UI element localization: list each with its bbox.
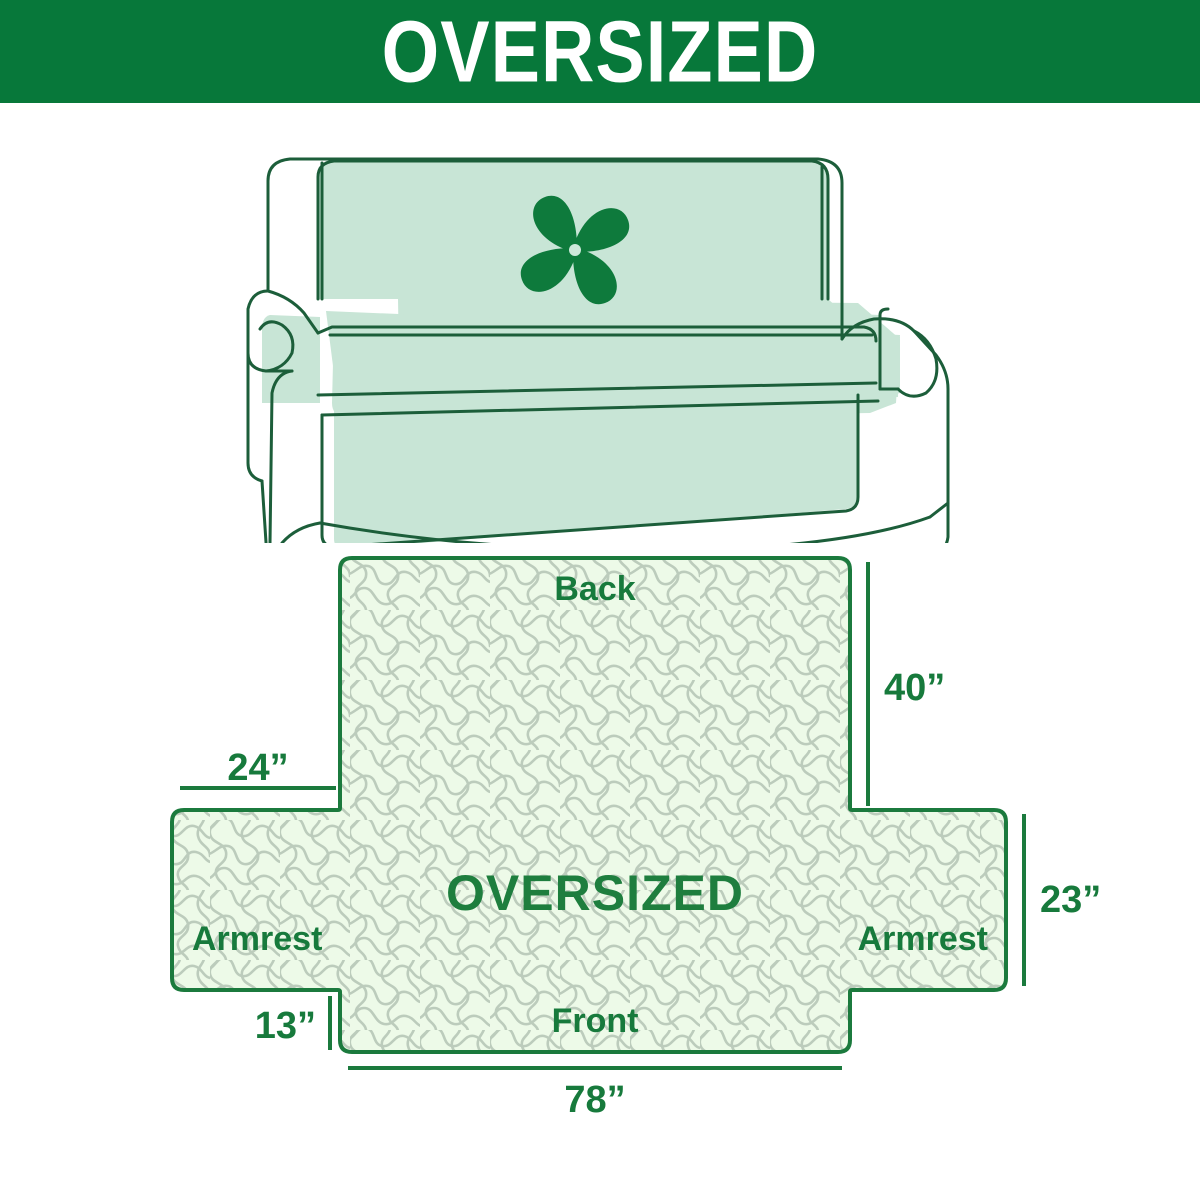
header-banner: OVERSIZED [0,0,1200,103]
page-title: OVERSIZED [382,8,819,95]
dimension-value-armrest-height: 23” [1040,879,1101,921]
section-label-armrest-right: Armrest [858,920,988,958]
dimension-value-back-height: 40” [884,667,945,709]
sofa-illustration-panel [0,103,1200,543]
dimension-value-front-height: 13” [255,1005,316,1047]
section-label-front: Front [552,1002,639,1040]
slipcover-left-arm [262,315,320,403]
section-label-back: Back [554,570,635,608]
section-label-armrest-left: Armrest [192,920,322,958]
flat-layout-diagram: Back Front Armrest Armrest OVERSIZED 40”… [0,540,1200,1160]
dimension-value-armrest-width: 24” [227,747,288,789]
center-size-label: OVERSIZED [446,865,744,921]
sofa-drawing [0,103,1200,543]
dimension-value-total-width: 78” [564,1079,625,1121]
flat-layout-drawing: Back Front Armrest Armrest OVERSIZED 40”… [0,540,1200,1160]
